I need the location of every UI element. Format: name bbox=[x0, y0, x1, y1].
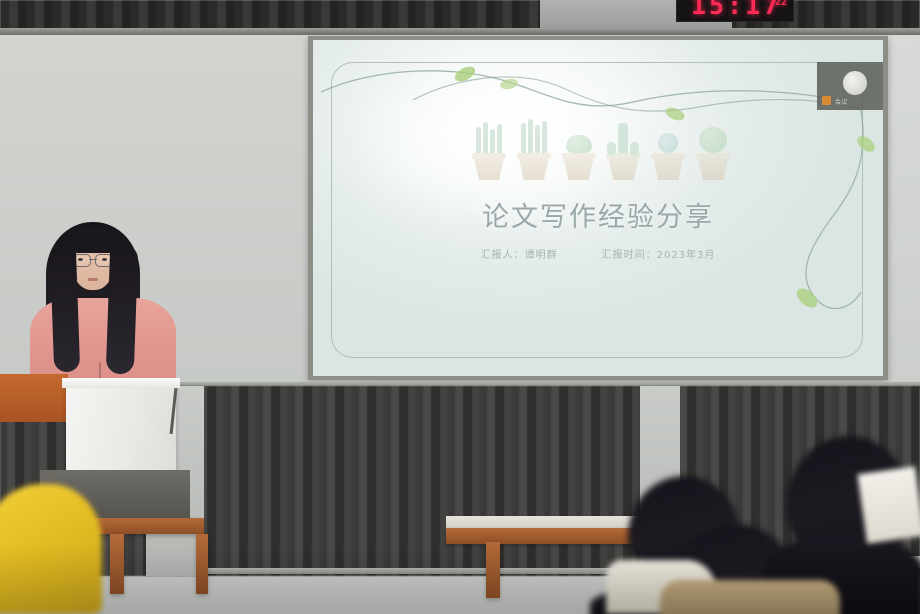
podium-top bbox=[62, 378, 180, 388]
app-logo-icon bbox=[843, 71, 867, 95]
plant-foliage bbox=[516, 119, 552, 153]
overlay-caption: 会议 bbox=[835, 97, 848, 106]
plant-pot bbox=[608, 158, 638, 180]
slide-subtitle: 汇报人：谭明群 汇报时间：2023年3月 bbox=[313, 246, 883, 261]
desk-leg bbox=[110, 534, 124, 594]
plant-item bbox=[650, 119, 686, 180]
audience-yellow-hood bbox=[0, 484, 102, 614]
plant-item bbox=[695, 119, 731, 180]
plant-foliage bbox=[561, 119, 597, 153]
classroom-presentation-photo: 15:17 22 bbox=[0, 0, 920, 614]
plant-pot bbox=[653, 158, 683, 180]
glasses-icon bbox=[72, 254, 114, 265]
plant-pot bbox=[519, 158, 549, 180]
audience-white-collar bbox=[857, 466, 920, 543]
desk-leg bbox=[486, 542, 500, 598]
plant-foliage bbox=[471, 119, 507, 153]
plant-item bbox=[471, 119, 507, 180]
curtain-bottom-rail bbox=[200, 568, 670, 574]
plant-foliage bbox=[695, 119, 731, 153]
presenter-hair-strand-right bbox=[106, 246, 138, 375]
plant-item bbox=[516, 119, 552, 180]
clock-seconds: 22 bbox=[775, 0, 787, 8]
stage-desk bbox=[0, 374, 68, 422]
plant-item bbox=[561, 119, 597, 180]
ceiling-curtain-rail bbox=[0, 28, 920, 35]
presenter-hair-strand-left bbox=[50, 246, 80, 373]
led-wall-clock: 15:17 22 bbox=[676, 0, 794, 22]
audience-tan-coat bbox=[660, 580, 840, 614]
conferencing-window[interactable]: 会议 bbox=[817, 62, 883, 110]
plant-pot bbox=[564, 158, 594, 180]
app-badge-icon bbox=[822, 96, 831, 105]
plant-pot bbox=[474, 158, 504, 180]
potted-plants-row bbox=[471, 118, 731, 180]
slide-presenter-label: 汇报人：谭明群 bbox=[481, 246, 558, 261]
slide-title: 论文写作经验分享 bbox=[313, 195, 883, 234]
plant-item bbox=[605, 119, 641, 180]
clock-time: 15:17 bbox=[691, 0, 781, 20]
desk-leg bbox=[196, 534, 208, 594]
plant-foliage bbox=[650, 119, 686, 153]
plant-pot bbox=[698, 158, 728, 180]
presenter-mouth bbox=[88, 278, 98, 281]
projected-slide: 论文写作经验分享 汇报人：谭明群 汇报时间：2023年3月 会议 bbox=[313, 40, 883, 376]
slide-date-label: 汇报时间：2023年3月 bbox=[602, 246, 716, 261]
